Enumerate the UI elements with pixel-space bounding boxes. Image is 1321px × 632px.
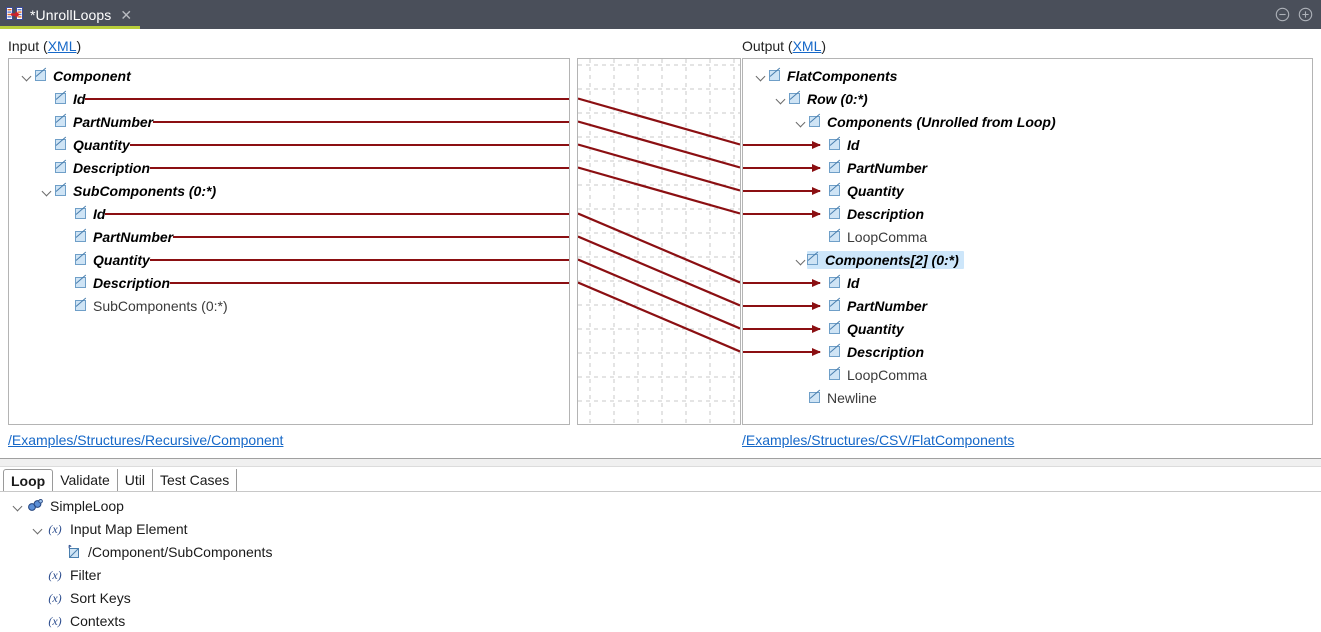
checkbox-icon bbox=[807, 254, 818, 265]
tree-row-label: Id bbox=[847, 275, 859, 291]
mapping-connector-line bbox=[105, 213, 569, 215]
tab-test-cases[interactable]: Test Cases bbox=[153, 469, 237, 491]
tree-row-label: Id bbox=[73, 91, 85, 107]
checkbox-icon bbox=[829, 208, 840, 219]
input-header-text-end: ) bbox=[77, 38, 82, 54]
svg-text:(x): (x) bbox=[48, 568, 61, 582]
loop-icon bbox=[26, 498, 44, 514]
tree-row[interactable]: LoopComma bbox=[743, 363, 1312, 386]
tree-spacer bbox=[39, 156, 55, 179]
node-content: Description bbox=[829, 344, 924, 360]
node-content: LoopComma bbox=[829, 229, 927, 245]
checkbox-icon bbox=[829, 346, 840, 357]
circle-plus-icon[interactable] bbox=[1298, 7, 1313, 22]
tree-spacer bbox=[59, 202, 75, 225]
mapping-arrow bbox=[743, 305, 820, 307]
node-content: PartNumber bbox=[829, 298, 927, 314]
loop-tree-row[interactable]: SimpleLoop bbox=[10, 494, 124, 517]
mapping-connector-line bbox=[150, 259, 569, 261]
tree-row-label: FlatComponents bbox=[787, 68, 897, 84]
mapping-arrow bbox=[743, 351, 820, 353]
tree-row[interactable]: Quantity bbox=[743, 317, 1312, 340]
horizontal-splitter[interactable] bbox=[0, 458, 1321, 467]
loop-tree-row-label: Sort Keys bbox=[70, 590, 131, 606]
tree-row[interactable]: FlatComponents bbox=[743, 64, 1312, 87]
checkbox-icon bbox=[55, 185, 66, 196]
mapping-connector-line bbox=[150, 167, 569, 169]
input-path-link[interactable]: /Examples/Structures/Recursive/Component bbox=[8, 432, 283, 448]
node-content: Row (0:*) bbox=[789, 91, 868, 107]
tree-row[interactable]: SubComponents (0:*) bbox=[9, 179, 569, 202]
tree-row-label: SubComponents (0:*) bbox=[93, 298, 228, 314]
checkbox-icon bbox=[55, 162, 66, 173]
checkbox-icon bbox=[55, 93, 66, 104]
checkbox-icon bbox=[809, 392, 820, 403]
checkbox-icon bbox=[829, 231, 840, 242]
tree-row[interactable]: Components (Unrolled from Loop) bbox=[743, 110, 1312, 133]
tree-row-label: Description bbox=[847, 344, 924, 360]
tab-title: *UnrollLoops bbox=[30, 7, 111, 23]
tree-row-label: PartNumber bbox=[73, 114, 153, 130]
document-tab[interactable]: *UnrollLoops ✕ bbox=[0, 0, 140, 29]
mapping-arrow bbox=[743, 167, 820, 169]
tree-spacer bbox=[59, 294, 75, 317]
tree-spacer bbox=[30, 609, 46, 632]
tab-validate[interactable]: Validate bbox=[53, 469, 118, 491]
tree-row-label: Description bbox=[73, 160, 150, 176]
output-header-text: Output ( bbox=[742, 38, 793, 54]
fx-icon: (x) bbox=[46, 567, 64, 583]
tree-row-label: Quantity bbox=[93, 252, 150, 268]
checkbox-icon bbox=[769, 70, 780, 81]
bottom-tab-divider bbox=[0, 491, 1321, 492]
window-buttons bbox=[1275, 0, 1313, 29]
node-content: Id bbox=[829, 275, 859, 291]
tree-row-label: Quantity bbox=[73, 137, 130, 153]
tree-row-label: Newline bbox=[827, 390, 877, 406]
chevron-down-icon[interactable] bbox=[19, 64, 35, 87]
tree-row-label: Quantity bbox=[847, 183, 904, 199]
checkbox-icon bbox=[829, 139, 840, 150]
bottom-tab-bar: LoopValidateUtilTest Cases bbox=[3, 469, 237, 491]
chevron-down-icon[interactable] bbox=[773, 87, 789, 110]
checkbox-icon bbox=[75, 254, 86, 265]
output-header: Output (XML) bbox=[742, 38, 826, 54]
tree-row-label: Row (0:*) bbox=[807, 91, 868, 107]
tree-spacer bbox=[793, 386, 809, 409]
checkbox-icon bbox=[809, 116, 820, 127]
tree-row[interactable]: SubComponents (0:*) bbox=[9, 294, 569, 317]
input-format-link[interactable]: XML bbox=[48, 38, 77, 54]
close-icon[interactable]: ✕ bbox=[120, 8, 132, 22]
checkbox-icon bbox=[829, 323, 840, 334]
tree-spacer bbox=[813, 363, 829, 386]
selected-node: Components[2] (0:*) bbox=[807, 251, 964, 269]
fx-icon: (x) bbox=[46, 590, 64, 606]
tree-row[interactable]: Id bbox=[743, 271, 1312, 294]
loop-tree-row-label: Contexts bbox=[70, 613, 125, 629]
tree-spacer bbox=[813, 225, 829, 248]
tree-row-label: Components (Unrolled from Loop) bbox=[827, 114, 1056, 130]
checkbox-icon bbox=[829, 162, 840, 173]
checkbox-icon bbox=[55, 139, 66, 150]
tree-row-label: Id bbox=[847, 137, 859, 153]
tree-row-label: Description bbox=[847, 206, 924, 222]
input-structure-panel[interactable]: ComponentIdPartNumberQuantityDescription… bbox=[8, 58, 570, 425]
mapping-arrow bbox=[743, 190, 820, 192]
checkbox-icon bbox=[55, 116, 66, 127]
map-element-icon bbox=[66, 544, 82, 560]
tab-util[interactable]: Util bbox=[118, 469, 153, 491]
node-content: Quantity bbox=[829, 183, 904, 199]
loop-properties-tree: SimpleLoop(x)Input Map Element/Component… bbox=[0, 494, 1321, 632]
checkbox-icon bbox=[75, 277, 86, 288]
mapping-connector-line bbox=[170, 282, 569, 284]
tree-spacer bbox=[39, 133, 55, 156]
mapping-connector-line bbox=[173, 236, 569, 238]
chevron-down-icon[interactable] bbox=[10, 494, 26, 517]
input-header: Input (XML) bbox=[8, 38, 81, 54]
fx-icon: (x) bbox=[46, 521, 64, 537]
tree-row-label: LoopComma bbox=[847, 229, 927, 245]
checkbox-icon bbox=[75, 231, 86, 242]
svg-text:(x): (x) bbox=[48, 614, 61, 628]
tree-spacer bbox=[30, 586, 46, 609]
loop-tree-row[interactable]: (x)Input Map Element bbox=[30, 517, 188, 540]
node-content: PartNumber bbox=[829, 160, 927, 176]
tree-spacer bbox=[30, 563, 46, 586]
tree-spacer bbox=[59, 271, 75, 294]
tree-row[interactable]: Description bbox=[743, 340, 1312, 363]
node-content: LoopComma bbox=[829, 367, 927, 383]
tree-row[interactable]: Description bbox=[743, 202, 1312, 225]
checkbox-icon bbox=[829, 185, 840, 196]
mapping-arrow bbox=[743, 144, 820, 146]
mapping-arrow bbox=[743, 328, 820, 330]
tree-row-label: PartNumber bbox=[847, 160, 927, 176]
output-structure-panel[interactable]: FlatComponentsRow (0:*)Components (Unrol… bbox=[742, 58, 1313, 425]
node-content: Newline bbox=[809, 390, 877, 406]
node-content: FlatComponents bbox=[769, 68, 897, 84]
fx-icon: (x) bbox=[46, 613, 64, 629]
tree-row[interactable]: Row (0:*) bbox=[743, 87, 1312, 110]
chevron-down-icon[interactable] bbox=[39, 179, 55, 202]
loop-tree-row-label: Input Map Element bbox=[70, 521, 188, 537]
tree-spacer bbox=[59, 225, 75, 248]
tree-row[interactable]: Id bbox=[743, 133, 1312, 156]
checkbox-icon bbox=[789, 93, 800, 104]
node-content: Description bbox=[829, 206, 924, 222]
tree-row-label: Components[2] (0:*) bbox=[825, 252, 959, 268]
checkbox-icon bbox=[829, 300, 840, 311]
loop-tree-row[interactable]: (x)Sort Keys bbox=[30, 586, 131, 609]
node-content: Quantity bbox=[829, 321, 904, 337]
tree-row-label: Id bbox=[93, 206, 105, 222]
tree-row[interactable]: Newline bbox=[743, 386, 1312, 409]
checkbox-icon bbox=[75, 208, 86, 219]
tree-row[interactable]: PartNumber bbox=[743, 294, 1312, 317]
output-header-text-end: ) bbox=[821, 38, 826, 54]
mapping-lines bbox=[578, 59, 740, 424]
node-content: Id bbox=[829, 137, 859, 153]
tab-loop[interactable]: Loop bbox=[3, 469, 53, 492]
loop-tree-row-label: SimpleLoop bbox=[50, 498, 124, 514]
input-header-text: Input ( bbox=[8, 38, 48, 54]
loop-tree-row[interactable]: (x)Contexts bbox=[30, 609, 125, 632]
tree-spacer bbox=[50, 540, 66, 563]
circle-minus-icon[interactable] bbox=[1275, 7, 1290, 22]
tree-row-label: Quantity bbox=[847, 321, 904, 337]
tree-row-label: SubComponents (0:*) bbox=[73, 183, 216, 199]
checkbox-icon bbox=[829, 369, 840, 380]
tree-spacer bbox=[39, 87, 55, 110]
tree-spacer bbox=[39, 110, 55, 133]
output-path-link[interactable]: /Examples/Structures/CSV/FlatComponents bbox=[742, 432, 1014, 448]
tree-row[interactable]: Quantity bbox=[743, 179, 1312, 202]
mapping-canvas-panel[interactable] bbox=[577, 58, 741, 425]
output-format-link[interactable]: XML bbox=[793, 38, 822, 54]
chevron-down-icon[interactable] bbox=[753, 64, 769, 87]
tree-row[interactable]: LoopComma bbox=[743, 225, 1312, 248]
mapping-arrow bbox=[743, 282, 820, 284]
tree-row[interactable]: PartNumber bbox=[743, 156, 1312, 179]
application-window: *UnrollLoops ✕ Input (XML) Output (XML) bbox=[0, 0, 1321, 632]
title-bar: *UnrollLoops ✕ bbox=[0, 0, 1321, 29]
checkbox-icon bbox=[829, 277, 840, 288]
tree-row-label: PartNumber bbox=[847, 298, 927, 314]
tree-row-label: Description bbox=[93, 275, 170, 291]
mapping-connector-line bbox=[130, 144, 569, 146]
tree-row[interactable]: Components[2] (0:*) bbox=[743, 248, 1312, 271]
mapping-arrow bbox=[743, 213, 820, 215]
checkbox-icon bbox=[35, 70, 46, 81]
tree-row[interactable]: Component bbox=[9, 64, 569, 87]
checkbox-icon bbox=[75, 300, 86, 311]
tree-row-label: PartNumber bbox=[93, 229, 173, 245]
loop-tree-row-label: /Component/SubComponents bbox=[88, 544, 272, 560]
map-transform-icon bbox=[6, 6, 23, 23]
svg-text:(x): (x) bbox=[48, 591, 61, 605]
loop-tree-row-label: Filter bbox=[70, 567, 101, 583]
chevron-down-icon[interactable] bbox=[30, 517, 46, 540]
svg-text:(x): (x) bbox=[48, 522, 61, 536]
tree-row-label: Component bbox=[53, 68, 131, 84]
tree-spacer bbox=[59, 248, 75, 271]
tree-row-label: LoopComma bbox=[847, 367, 927, 383]
active-tab-indicator bbox=[0, 26, 140, 29]
loop-tree-row[interactable]: (x)Filter bbox=[30, 563, 101, 586]
loop-tree-row[interactable]: /Component/SubComponents bbox=[50, 540, 272, 563]
node-content: Components (Unrolled from Loop) bbox=[809, 114, 1056, 130]
mapping-connector-line bbox=[85, 98, 569, 100]
chevron-down-icon[interactable] bbox=[793, 110, 809, 133]
mapping-connector-line bbox=[153, 121, 569, 123]
